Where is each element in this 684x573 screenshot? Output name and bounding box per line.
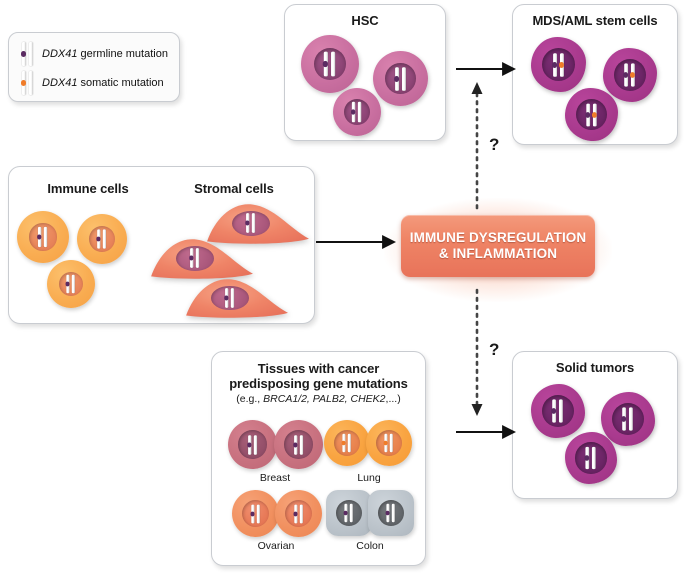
banner-line1: IMMUNE DYSREGULATION	[410, 230, 587, 245]
arrow-tissues-to-solid	[456, 425, 528, 439]
legend-label-germline: DDX41 germline mutation	[42, 48, 168, 60]
chromosome-icon	[66, 275, 77, 294]
germline-mutation-dot	[224, 295, 229, 300]
germline-mutation-dot	[37, 234, 42, 239]
panel-mds-title: MDS/AML stem cells	[513, 13, 677, 28]
tissues-title-line2: predisposing gene mutations	[212, 376, 425, 391]
hsc-cell	[301, 35, 359, 93]
chromosome-icon	[344, 504, 355, 522]
germline-mutation-dot	[323, 61, 329, 67]
germline-mutation-dot	[66, 282, 70, 286]
somatic-mutation-dot	[558, 62, 563, 67]
germline-mutation-dot	[351, 109, 356, 114]
legend-box: DDX41 germline mutation DDX41 somatic mu…	[8, 32, 180, 102]
chromosome-icon	[96, 229, 107, 248]
examples-prefix: (e.g.,	[236, 393, 263, 405]
immune-cell	[77, 214, 127, 264]
chromosome-icon	[247, 435, 258, 455]
tissues-title-line1: Tissues with cancer	[212, 361, 425, 376]
somatic-mutation-dot	[591, 112, 596, 117]
chromosome-icon	[224, 288, 235, 308]
tissue-cell	[324, 420, 370, 466]
legend-label-somatic: DDX41 somatic mutation	[42, 77, 164, 89]
immune-cells-title: Immune cells	[23, 181, 153, 196]
chromosome-icon	[552, 53, 566, 77]
germline-mutation-dot	[293, 442, 297, 446]
examples-suffix: ,...)	[386, 393, 401, 405]
germline-mutation-dot	[552, 62, 557, 67]
banner-line2: & INFLAMMATION	[439, 246, 557, 261]
germline-mutation-dot	[247, 442, 251, 446]
germline-mutation-dot	[245, 221, 250, 226]
germline-mutation-dot	[293, 511, 297, 515]
panel-mds-aml: MDS/AML stem cells	[512, 4, 678, 145]
somatic-mutation-dot	[342, 441, 346, 445]
banner-text: IMMUNE DYSREGULATION & INFLAMMATION	[410, 230, 587, 262]
stromal-cell	[149, 235, 254, 280]
immune-cell	[17, 211, 69, 263]
legend-text-somatic: somatic mutation	[77, 77, 163, 89]
legend-gene-germline: DDX41	[42, 48, 77, 60]
arrow-hsc-to-mds	[456, 62, 528, 76]
tissue-cell	[366, 420, 412, 466]
chromosome-icon	[37, 227, 49, 247]
legend-text-germline: germline mutation	[77, 48, 168, 60]
germline-mutation-dot	[386, 511, 390, 515]
hsc-cell	[333, 88, 381, 136]
tissue-label-colon: Colon	[324, 540, 416, 552]
chromosome-icon	[293, 504, 304, 523]
germline-mutation-dot	[189, 256, 194, 261]
chromosome-icon	[394, 67, 408, 91]
mds-aml-cell	[565, 88, 618, 141]
tissues-examples: (e.g., BRCA1/2, PALB2, CHEK2,...)	[212, 393, 425, 405]
chromosome-icon	[323, 52, 338, 77]
chromosome-icon	[293, 435, 304, 455]
panel-hsc-title: HSC	[285, 13, 445, 28]
chromosome-icon	[585, 447, 598, 469]
chromosome-icon	[585, 103, 598, 126]
chromosome-icon	[386, 504, 397, 522]
solid-tumor-cell	[565, 432, 617, 484]
hsc-cell	[373, 51, 428, 106]
legend-item-germline: DDX41 germline mutation	[21, 42, 168, 66]
chromosome-icon	[384, 434, 395, 452]
panel-solid-title: Solid tumors	[513, 360, 677, 375]
germline-mutation-dot	[96, 237, 100, 241]
examples-genes: BRCA1/2, PALB2, CHEK2	[263, 393, 385, 405]
tissue-label-ovarian: Ovarian	[230, 540, 322, 552]
chromosome-icon	[621, 407, 635, 430]
dotted-arrow-banner-to-tissues	[470, 288, 484, 420]
germline-mutation-dot	[584, 455, 589, 460]
germline-mutation-dot	[250, 511, 254, 515]
somatic-mutation-dot	[384, 441, 388, 445]
tissue-cell	[326, 490, 372, 536]
chromosome-germline-icon	[21, 42, 35, 66]
legend-item-somatic: DDX41 somatic mutation	[21, 71, 164, 95]
stromal-cells-title: Stromal cells	[169, 181, 299, 196]
question-mark-bottom: ?	[489, 340, 499, 360]
dotted-arrow-banner-to-hsc	[470, 78, 484, 210]
panel-solid-tumors: Solid tumors	[512, 351, 678, 499]
immune-cell	[47, 260, 95, 308]
stromal-cell	[184, 275, 289, 319]
germline-mutation-dot	[551, 408, 556, 413]
panel-hsc: HSC	[284, 4, 446, 141]
mds-aml-cell	[531, 37, 586, 92]
chromosome-icon	[245, 214, 256, 234]
panel-tissues: Tissues with cancer predisposing gene mu…	[211, 351, 426, 566]
germline-mutation-dot	[394, 76, 399, 81]
arrow-immune-to-banner	[316, 232, 408, 252]
tissue-cell	[274, 420, 323, 469]
chromosome-somatic-icon	[21, 71, 35, 95]
tissue-label-lung: Lung	[324, 472, 414, 484]
germline-mutation-dot	[623, 72, 628, 77]
chromosome-icon	[189, 249, 200, 269]
solid-tumor-cell	[531, 384, 585, 438]
chromosome-icon	[250, 504, 261, 523]
chromosome-icon	[351, 102, 363, 123]
chromosome-icon	[342, 434, 353, 452]
tissue-cell	[368, 490, 414, 536]
chromosome-icon	[551, 399, 565, 422]
germline-mutation-dot	[585, 112, 590, 117]
tissue-cell	[275, 490, 322, 537]
tissue-cell	[232, 490, 279, 537]
immune-dysregulation-banner: IMMUNE DYSREGULATION & INFLAMMATION	[401, 215, 595, 277]
question-mark-top: ?	[489, 135, 499, 155]
somatic-mutation-dot	[630, 72, 635, 77]
tissue-cell	[228, 420, 277, 469]
panel-immune-stromal: Immune cells Stromal cells	[8, 166, 315, 324]
legend-gene-somatic: DDX41	[42, 77, 77, 89]
chromosome-icon	[623, 63, 637, 86]
germline-mutation-dot	[344, 511, 348, 515]
tissue-label-breast: Breast	[230, 472, 320, 484]
germline-mutation-dot	[621, 416, 626, 421]
